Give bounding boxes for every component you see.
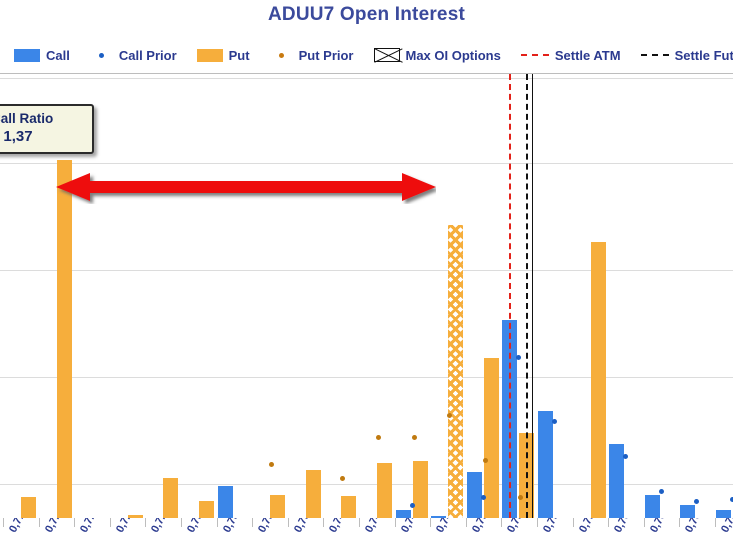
x-tick bbox=[466, 518, 467, 527]
x-tick bbox=[145, 518, 146, 527]
legend-item-put-prior[interactable]: Put Prior bbox=[270, 48, 354, 63]
x-axis-label: 0,7475 bbox=[434, 518, 460, 535]
open-interest-chart-panel: ADUU7 Open Interest CallCall PriorPutPut… bbox=[0, 0, 733, 551]
bar-put[interactable] bbox=[163, 478, 178, 518]
settle-atm-dash-icon bbox=[521, 54, 549, 56]
legend-item-call-prior[interactable]: Call Prior bbox=[90, 48, 177, 63]
bar-call[interactable] bbox=[609, 444, 624, 518]
put-prior-dot-icon bbox=[279, 53, 284, 58]
x-axis-label: 0,7425 bbox=[363, 518, 389, 535]
call-swatch-icon bbox=[14, 49, 40, 62]
x-tick bbox=[573, 518, 574, 527]
x-tick bbox=[323, 518, 324, 527]
x-tick bbox=[537, 518, 538, 527]
legend-label: Put Prior bbox=[299, 48, 354, 63]
point-put-prior[interactable] bbox=[412, 435, 417, 440]
max-oi-hatch-icon bbox=[374, 48, 400, 62]
point-call-prior[interactable] bbox=[623, 454, 628, 459]
legend-label: Settle ATM bbox=[555, 48, 621, 63]
x-tick bbox=[608, 518, 609, 527]
x-axis-label: 0,7250 bbox=[114, 518, 140, 535]
tooltip-title: t/Call Ratio bbox=[0, 111, 92, 127]
bar-call[interactable] bbox=[218, 486, 233, 518]
legend-item-max-oi-options[interactable]: Max OI Options bbox=[374, 48, 501, 63]
x-tick bbox=[430, 518, 431, 527]
x-axis-label: 0,7400 bbox=[327, 518, 353, 535]
point-put-prior[interactable] bbox=[269, 462, 274, 467]
x-tick bbox=[644, 518, 645, 527]
bar-put[interactable] bbox=[448, 225, 463, 518]
legend-item-settle-atm[interactable]: Settle ATM bbox=[521, 48, 621, 63]
bar-put[interactable] bbox=[484, 358, 499, 518]
x-tick bbox=[217, 518, 218, 527]
point-call-prior[interactable] bbox=[410, 503, 415, 508]
x-axis-label: 0,7225 bbox=[78, 518, 104, 535]
bar-call[interactable] bbox=[680, 505, 695, 518]
x-axis-label: 0,7175 bbox=[7, 518, 33, 535]
tooltip-value: 1,37 bbox=[0, 127, 92, 146]
x-axis-label: 0,7300 bbox=[185, 518, 211, 535]
x-axis: 0,71750,72000,72250,72500,72750,73000,73… bbox=[0, 518, 733, 551]
gridline bbox=[0, 270, 733, 271]
legend-label: Put bbox=[229, 48, 250, 63]
x-axis-label: 0,7450 bbox=[399, 518, 425, 535]
gridline bbox=[0, 377, 733, 378]
point-call-prior[interactable] bbox=[481, 495, 486, 500]
x-axis-label: 0,7600 bbox=[612, 518, 638, 535]
legend-item-settle-fut[interactable]: Settle Fut bbox=[641, 48, 733, 63]
range-double-arrow bbox=[56, 170, 436, 204]
point-call-prior[interactable] bbox=[659, 489, 664, 494]
marker-line-settle-fut-dashed bbox=[526, 74, 528, 518]
point-call-prior[interactable] bbox=[694, 499, 699, 504]
bar-put[interactable] bbox=[306, 470, 321, 518]
settle-fut-dash-icon bbox=[641, 54, 669, 56]
x-tick bbox=[3, 518, 4, 527]
bar-call[interactable] bbox=[538, 411, 553, 518]
legend-label: Call Prior bbox=[119, 48, 177, 63]
x-tick bbox=[252, 518, 253, 527]
x-axis-label: 0,7275 bbox=[149, 518, 175, 535]
x-axis-label: 0,7350 bbox=[256, 518, 282, 535]
x-tick bbox=[679, 518, 680, 527]
bar-put[interactable] bbox=[57, 160, 72, 519]
bar-put[interactable] bbox=[199, 501, 214, 518]
bar-call[interactable] bbox=[396, 510, 411, 518]
x-tick bbox=[501, 518, 502, 527]
bar-put[interactable] bbox=[21, 497, 36, 518]
x-tick bbox=[715, 518, 716, 527]
bar-put[interactable] bbox=[270, 495, 285, 518]
legend-item-put[interactable]: Put bbox=[197, 48, 250, 63]
bar-put[interactable] bbox=[591, 242, 606, 518]
x-axis-label: 0,7200 bbox=[43, 518, 69, 535]
x-tick bbox=[39, 518, 40, 527]
legend-label: Settle Fut bbox=[675, 48, 733, 63]
x-axis-label: 0,7500 bbox=[470, 518, 496, 535]
x-tick bbox=[181, 518, 182, 527]
gridline bbox=[0, 163, 733, 164]
x-axis-label: 0,7525 bbox=[505, 518, 531, 535]
x-axis-label: 0,7550 bbox=[541, 518, 567, 535]
bar-put[interactable] bbox=[413, 461, 428, 518]
legend-item-call[interactable]: Call bbox=[14, 48, 70, 63]
point-put-prior[interactable] bbox=[376, 435, 381, 440]
marker-line-settle-fut-solid bbox=[532, 74, 533, 518]
legend-label: Max OI Options bbox=[406, 48, 501, 63]
bar-call[interactable] bbox=[645, 495, 660, 518]
x-axis-label: 0,7625 bbox=[648, 518, 674, 535]
bar-call[interactable] bbox=[716, 510, 731, 518]
chart-legend: CallCall PriorPutPut PriorMax OI Options… bbox=[14, 44, 733, 66]
plot-area bbox=[0, 74, 733, 518]
gridline-top bbox=[0, 78, 733, 79]
call-prior-dot-icon bbox=[99, 53, 104, 58]
x-tick bbox=[110, 518, 111, 527]
x-axis-label: 0,7650 bbox=[683, 518, 709, 535]
x-tick bbox=[74, 518, 75, 527]
x-axis-label: 0,7325 bbox=[221, 518, 247, 535]
x-axis-label: 0,7675 bbox=[719, 518, 733, 535]
bar-call[interactable] bbox=[467, 472, 482, 518]
put-call-ratio-tooltip: t/Call Ratio 1,37 bbox=[0, 104, 94, 154]
point-put-prior[interactable] bbox=[340, 476, 345, 481]
legend-label: Call bbox=[46, 48, 70, 63]
point-call-prior[interactable] bbox=[552, 419, 557, 424]
x-tick bbox=[395, 518, 396, 527]
bar-put[interactable] bbox=[377, 463, 392, 518]
x-axis-label: 0,7375 bbox=[292, 518, 318, 535]
x-tick bbox=[288, 518, 289, 527]
put-swatch-icon bbox=[197, 49, 223, 62]
point-call-prior[interactable] bbox=[516, 355, 521, 360]
x-tick bbox=[359, 518, 360, 527]
page-title: ADUU7 Open Interest bbox=[0, 4, 733, 26]
marker-line-settle-atm-dashed bbox=[509, 74, 511, 518]
x-axis-label: 0,7575 bbox=[577, 518, 603, 535]
bar-put[interactable] bbox=[341, 496, 356, 518]
